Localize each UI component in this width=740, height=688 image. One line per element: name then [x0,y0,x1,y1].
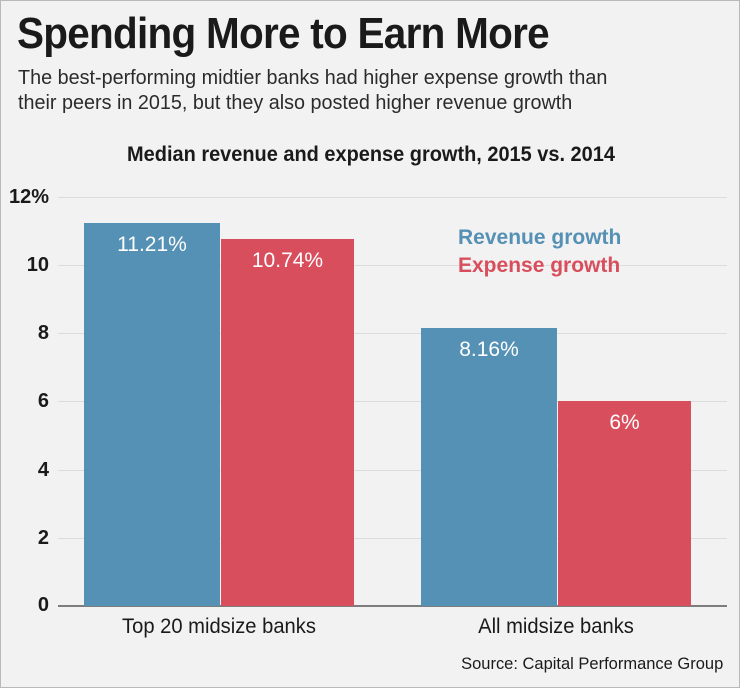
ytick-label-8: 8 [1,322,49,345]
ytick-label-10: 10 [1,254,49,277]
category-label-all: All midsize banks [426,615,685,639]
bar-value-label: 8.16% [421,338,557,362]
source-note: Source: Capital Performance Group [461,654,723,674]
ytick-label-0: 0 [1,594,49,617]
bar-value-label: 6% [558,411,691,435]
ytick-label-4: 4 [1,459,49,482]
bar-revenue-top20[interactable]: 11.21% [84,223,220,606]
gridline-12 [58,197,727,198]
plot-area: 12% 10 8 6 4 2 0 11.21% 10.74% 8.16% 6% … [1,1,740,688]
legend-entry-revenue-growth[interactable]: Revenue growth [458,224,621,252]
legend: Revenue growth Expense growth [458,224,621,280]
bar-expense-all[interactable]: 6% [558,401,691,606]
bar-revenue-all[interactable]: 8.16% [421,328,557,606]
ytick-label-12: 12% [1,186,49,209]
chart-figure: Spending More to Earn More The best-perf… [0,0,740,688]
legend-entry-expense-growth[interactable]: Expense growth [458,252,621,280]
bar-expense-top20[interactable]: 10.74% [221,239,354,606]
category-label-top20: Top 20 midsize banks [89,615,348,639]
bar-value-label: 11.21% [84,233,220,257]
ytick-label-6: 6 [1,390,49,413]
ytick-label-2: 2 [1,527,49,550]
bar-value-label: 10.74% [221,249,354,273]
